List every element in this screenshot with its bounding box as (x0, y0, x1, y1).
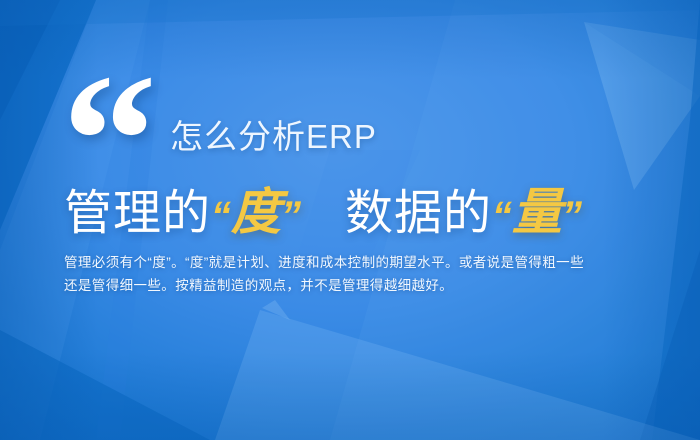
headline-segment-two-accent-group: “量” (492, 172, 582, 244)
headline-quote-close-two: ” (562, 194, 582, 238)
poster-subtitle: 怎么分析ERP (170, 110, 377, 158)
headline-accent-one: 度 (231, 184, 281, 240)
poster-headline: 管理的 “度” 数据的 “量” (64, 172, 582, 244)
headline-segment-one-plain: 管理的 (64, 173, 211, 243)
headline-quote-close-one: ” (281, 194, 301, 238)
poster-canvas: “ 怎么分析ERP 管理的 “度” 数据的 “量” 管理必须有个“度”。“度”就… (0, 0, 700, 440)
poster-body-text: 管理必须有个“度”。“度”就是计划、进度和成本控制的期望水平。或者说是管得粗一些… (64, 251, 644, 297)
headline-accent-two: 量 (512, 184, 562, 240)
headline-segment-two-plain: 数据的 (345, 173, 492, 243)
body-line-one: 管理必须有个“度”。“度”就是计划、进度和成本控制的期望水平。或者说是管得粗一些 (64, 251, 644, 274)
poster-content: “ 怎么分析ERP 管理的 “度” 数据的 “量” 管理必须有个“度”。“度”就… (0, 0, 700, 440)
headline-segment-one-accent-group: “度” (211, 172, 301, 244)
headline-quote-open-one: “ (211, 194, 231, 238)
body-line-two: 还是管得细一些。按精益制造的观点，并不是管理得越细越好。 (64, 274, 644, 297)
headline-quote-open-two: “ (492, 194, 512, 238)
